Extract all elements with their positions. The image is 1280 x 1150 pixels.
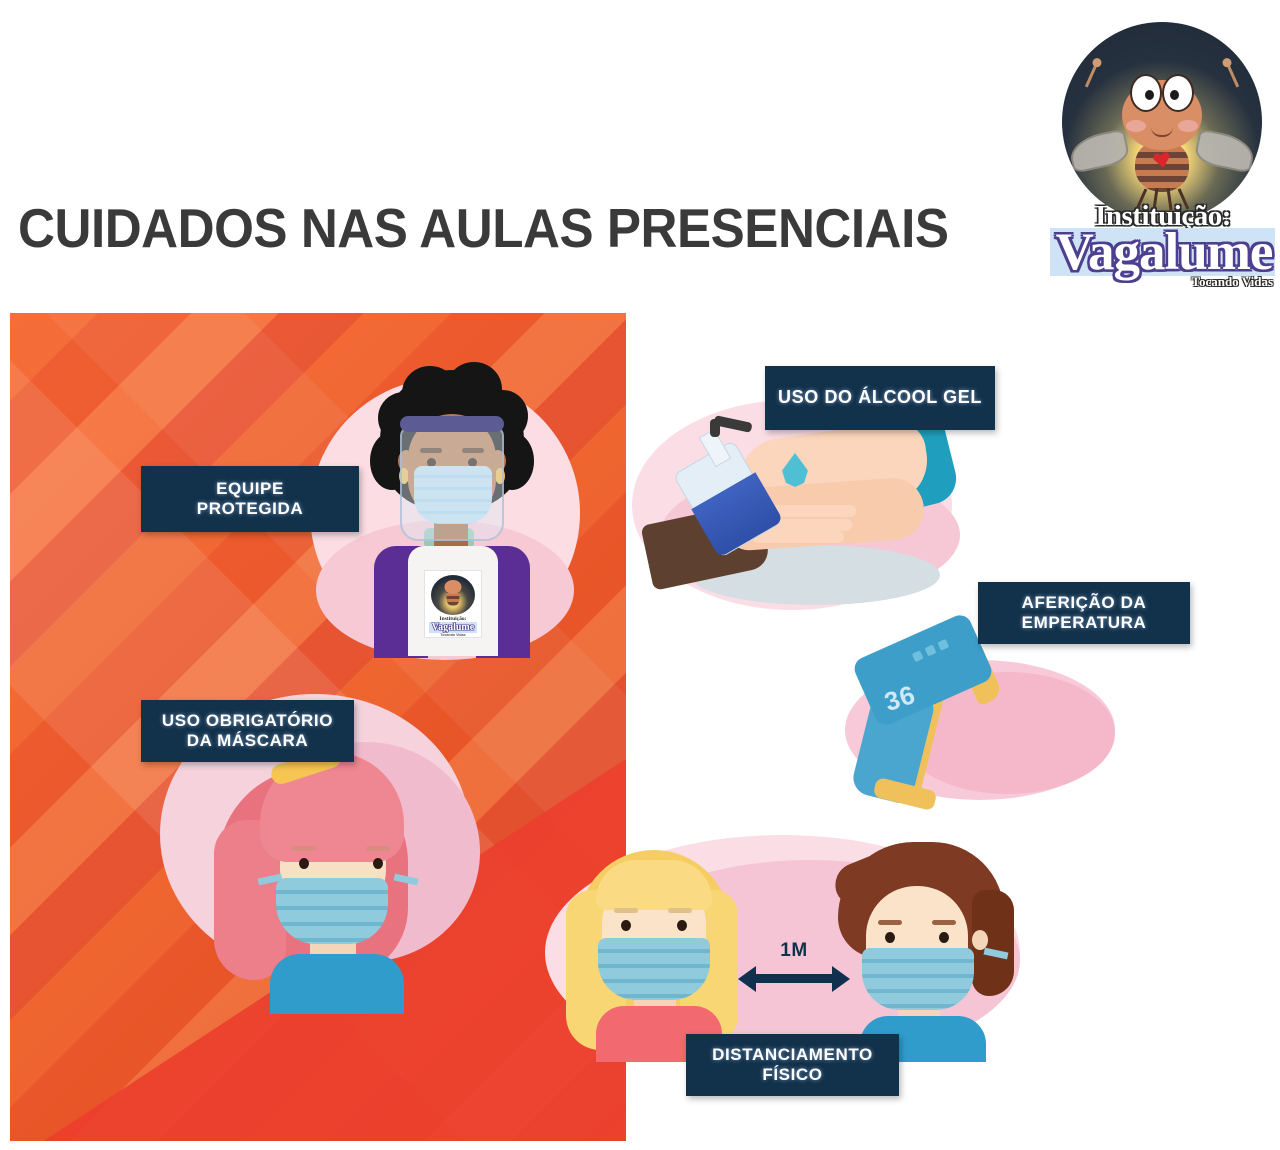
distance-label: 1M: [738, 940, 850, 962]
firefly-eye-icon: [1130, 74, 1162, 112]
firefly-smile-icon: [1151, 127, 1173, 137]
boy-figure: [832, 838, 1016, 1058]
uniform-logo-badge: Instituição: Vagalume Tocando Vidas: [424, 570, 482, 638]
label-uso-alcool-gel: USO DO ÁLCOOL GEL: [765, 366, 995, 430]
surgical-mask-icon: [276, 878, 388, 944]
badge-tagline: Tocando Vidas: [440, 633, 465, 637]
face-shield-icon: [400, 426, 504, 541]
vagalume-logo: Instituição: Vagalume Tocando Vidas: [1050, 22, 1275, 290]
label-uso-obrigatorio-mascara: USO OBRIGATÓRIO DA MÁSCARA: [141, 700, 354, 762]
surgical-mask-icon: [598, 938, 710, 1000]
page-title: CUIDADOS NAS AULAS PRESENCIAIS: [18, 196, 939, 260]
illustration-staff-protected: Instituição: Vagalume Tocando Vidas: [372, 370, 532, 660]
tshirt: [270, 954, 404, 1014]
illustration-physical-distancing: 1M: [560, 838, 1015, 1058]
badge-name: Vagalume: [429, 622, 477, 633]
illustration-thermometer: 36: [852, 628, 1032, 808]
firefly-head-icon: [1122, 80, 1202, 150]
badge-firefly-icon: [431, 575, 475, 615]
firefly-antenna-icon: [1226, 63, 1239, 88]
surgical-mask-icon: [862, 948, 974, 1010]
firefly-wing-left-icon: [1067, 128, 1131, 173]
poster-canvas: CUIDADOS NAS AULAS PRESENCIAIS Instituiç…: [0, 0, 1280, 1150]
arrow-right-icon: [832, 966, 850, 992]
arrow-left-icon: [738, 966, 756, 992]
illustration-girl-with-mask: [218, 746, 428, 996]
firefly-wing-right-icon: [1193, 128, 1257, 173]
firefly-antenna-icon: [1085, 63, 1098, 88]
logo-name: Vagalume: [1050, 222, 1278, 282]
distance-arrow: 1M: [738, 948, 850, 1000]
logo-tagline: Tocando Vidas: [1191, 274, 1273, 290]
label-equipe-protegida: EQUIPE PROTEGIDA: [141, 466, 359, 532]
label-afericao-temperatura: AFERIÇÃO DA EMPERATURA: [978, 582, 1190, 644]
label-distanciamento-fisico: DISTANCIAMENTO FÍSICO: [686, 1034, 899, 1096]
firefly-eye-icon: [1162, 74, 1194, 112]
illustration-alcohol-gel: [640, 405, 960, 605]
face-shield-band: [400, 416, 504, 432]
firefly-icon: [1062, 22, 1262, 222]
